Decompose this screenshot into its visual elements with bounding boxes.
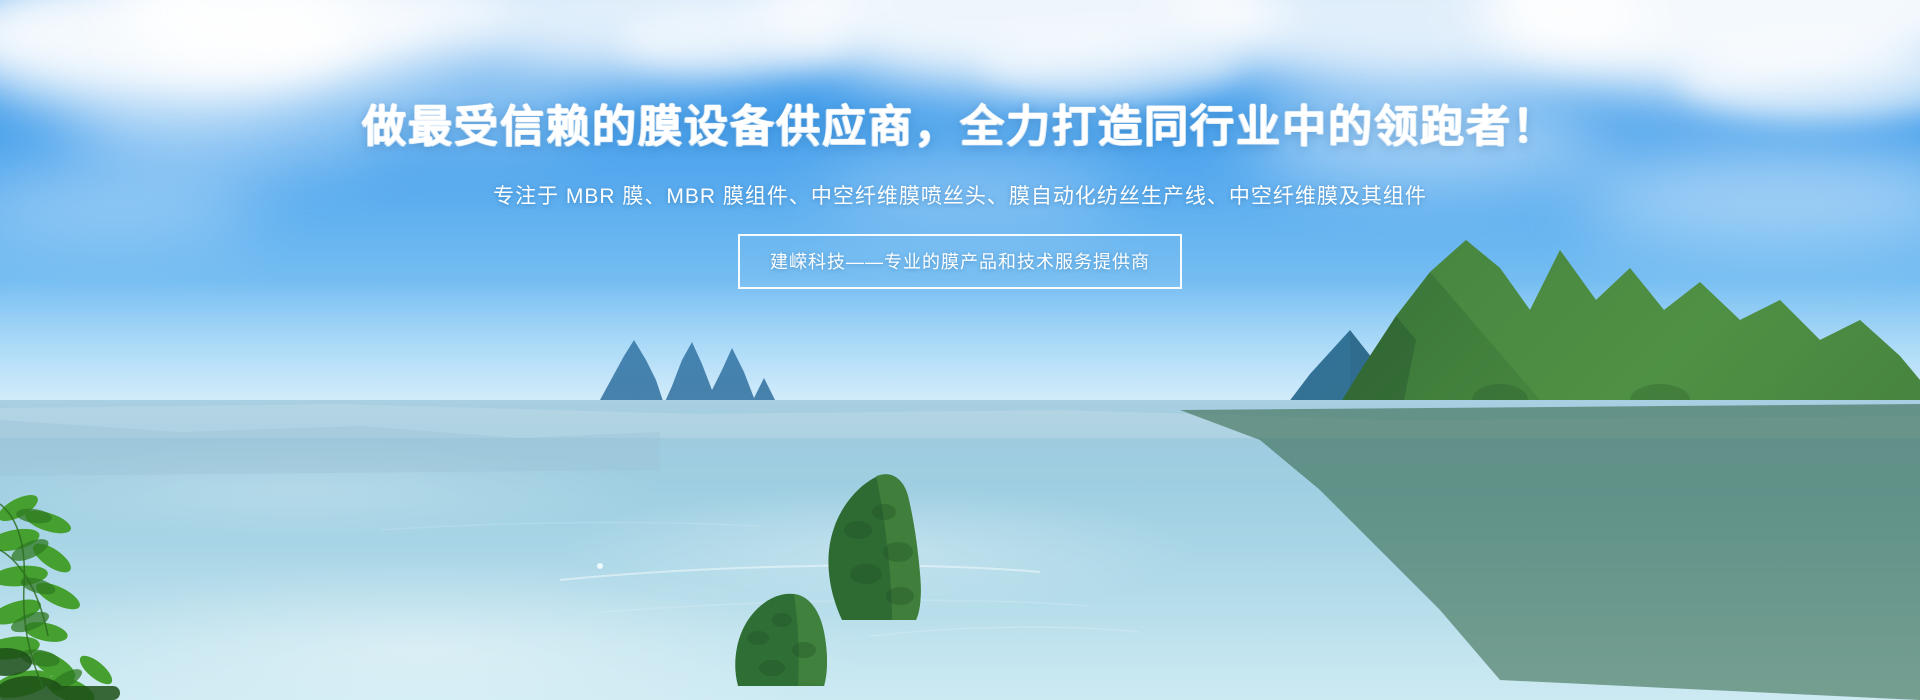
page-title: 做最受信赖的膜设备供应商，全力打造同行业中的领跑者！: [0, 104, 1920, 150]
hero-text-block: 做最受信赖的膜设备供应商，全力打造同行业中的领跑者！ 专注于 MBR 膜、MBR…: [0, 0, 1920, 289]
water-details: [0, 380, 1920, 700]
hero-banner: 做最受信赖的膜设备供应商，全力打造同行业中的领跑者！ 专注于 MBR 膜、MBR…: [0, 0, 1920, 700]
tagline-box-wrapper: 建嵘科技——专业的膜产品和技术服务提供商: [0, 234, 1920, 289]
foreground-foliage: [0, 400, 230, 700]
tree-island-small: [718, 576, 848, 686]
subtitle: 专注于 MBR 膜、MBR 膜组件、中空纤维膜喷丝头、膜自动化纺丝生产线、中空纤…: [0, 180, 1920, 210]
tagline-box: 建嵘科技——专业的膜产品和技术服务提供商: [738, 234, 1182, 289]
